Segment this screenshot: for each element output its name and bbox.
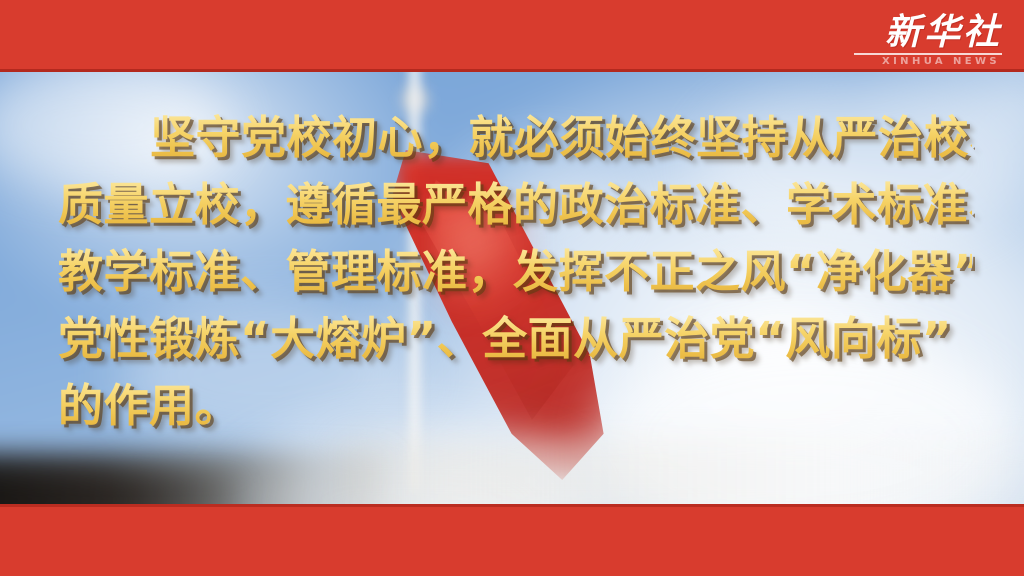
quote-line: 质量立校，遵循最严格的政治标准、学术标准、 <box>58 171 972 238</box>
logo-english-name: XINHUA NEWS <box>854 57 1002 67</box>
quote-text-block: 坚守党校初心，就必须始终坚持从严治校、 质量立校，遵循最严格的政治标准、学术标准… <box>0 104 1024 439</box>
xinhua-logo: 新华社 XINHUA NEWS <box>854 14 1002 67</box>
bottom-red-band <box>0 504 1024 576</box>
quote-line: 的作用。 <box>58 372 972 439</box>
logo-chinese-name: 新华社 <box>854 14 1002 50</box>
quote-line: 坚守党校初心，就必须始终坚持从严治校、 <box>58 104 972 171</box>
quote-line: 教学标准、管理标准，发挥不正之风“净化器”、 <box>58 238 972 305</box>
logo-underline <box>854 53 1002 55</box>
news-quote-card: 新华社 XINHUA NEWS 坚守党校初心，就必须始终坚持从严治校、 质量立校… <box>0 0 1024 576</box>
quote-line: 党性锻炼“大熔炉”、全面从严治党“风向标” <box>58 305 972 372</box>
